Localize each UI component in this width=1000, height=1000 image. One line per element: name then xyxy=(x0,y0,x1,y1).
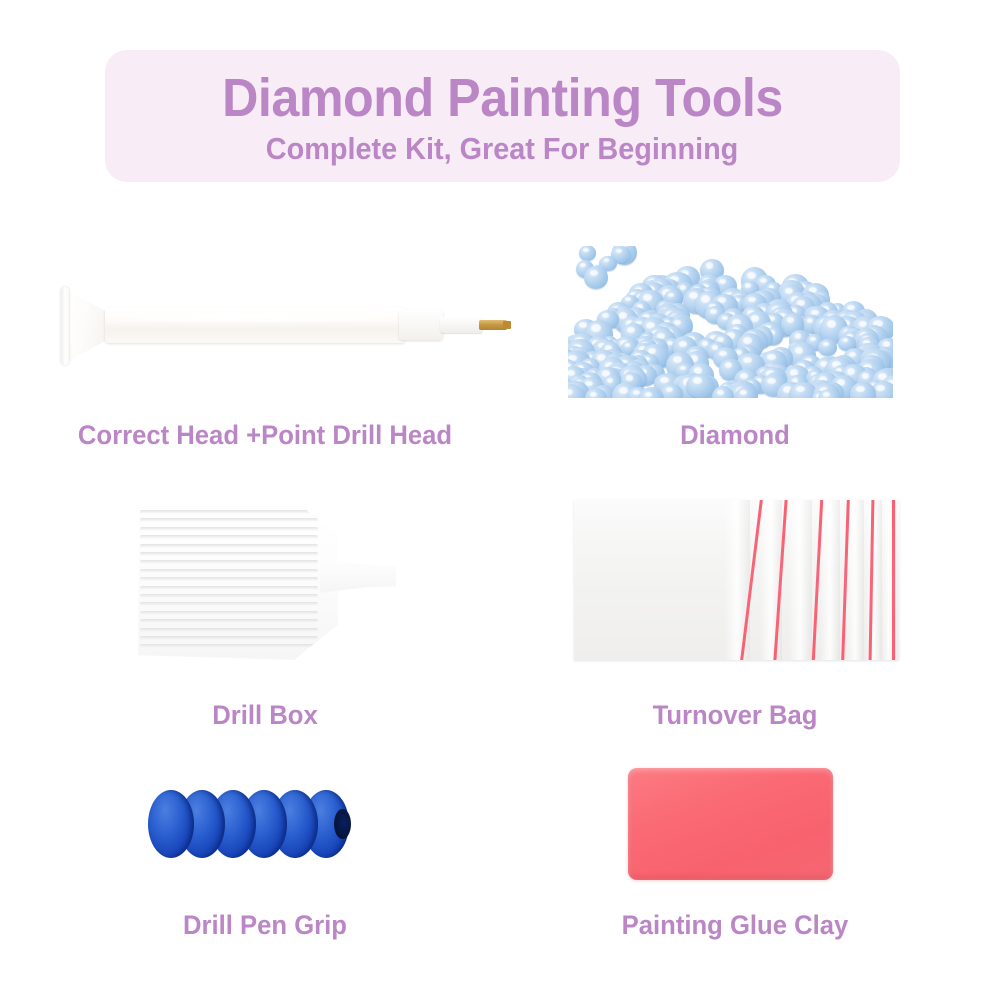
product-label-drill-box: Drill Box xyxy=(42,700,489,731)
drill-box-rib xyxy=(140,619,318,623)
pen-collar xyxy=(399,310,443,340)
product-cell-correct-head-point-drill-head xyxy=(30,250,500,400)
drill-box-rib xyxy=(140,569,318,573)
drill-box-rib xyxy=(140,602,318,606)
pen-nose-cone xyxy=(440,317,483,333)
product-label-diamond: Diamond xyxy=(531,420,940,451)
product-label-correct-head-point-drill-head: Correct Head +Point Drill Head xyxy=(42,420,489,451)
page-title: Diamond Painting Tools xyxy=(222,70,783,127)
zip-bag-fold xyxy=(788,500,812,660)
drill-box-rib xyxy=(140,560,318,564)
pen-correct-head-edge xyxy=(61,287,69,365)
pen-grip-segment xyxy=(148,790,194,858)
product-cell-turnover-bag xyxy=(520,495,950,670)
product-cell-painting-glue-clay xyxy=(520,760,950,890)
header-banner: Diamond Painting Tools Complete Kit, Gre… xyxy=(105,50,900,182)
product-cell-drill-box xyxy=(30,495,500,670)
pen-correct-head-blade xyxy=(63,288,109,364)
drill-box-body xyxy=(138,500,338,660)
pen-grip-bore-hole xyxy=(334,809,351,839)
drill-box-tray-photo xyxy=(138,500,398,660)
drill-box-rib xyxy=(140,552,318,556)
drill-box-rib xyxy=(140,628,318,632)
drill-box-rib xyxy=(140,535,318,539)
zip-bag-fold xyxy=(820,500,840,660)
glue-clay-block xyxy=(628,768,833,880)
product-cell-drill-pen-grip xyxy=(30,775,500,885)
turnover-zip-bags-photo xyxy=(574,500,899,660)
drill-box-rib xyxy=(140,510,318,514)
drill-pen-grip-photo xyxy=(148,790,353,858)
product-label-drill-pen-grip: Drill Pen Grip xyxy=(42,910,489,941)
zip-bag-seal-stripe xyxy=(892,500,895,660)
pen-gold-tip-cap xyxy=(503,321,511,329)
pen-barrel-highlight xyxy=(117,313,392,322)
drill-box-rib xyxy=(140,577,318,581)
drill-box-rib xyxy=(140,544,318,548)
diamond-drill xyxy=(639,389,661,398)
drill-pen-with-correct-head-photo xyxy=(55,268,495,383)
diamond-drill xyxy=(585,388,607,398)
diamond-drill xyxy=(686,374,715,399)
diamond-drill xyxy=(712,386,734,398)
diamond-drill xyxy=(818,339,837,356)
drill-box-rib xyxy=(140,586,318,590)
diamond-drill xyxy=(584,266,608,289)
drill-box-rib xyxy=(140,636,318,640)
painting-glue-clay-photo xyxy=(628,768,833,880)
drill-box-rib xyxy=(140,594,318,598)
drill-box-rib xyxy=(140,518,318,522)
product-label-turnover-bag: Turnover Bag xyxy=(531,700,940,731)
product-cell-diamond xyxy=(520,240,950,400)
drill-box-rib xyxy=(140,611,318,615)
page-subtitle: Complete Kit, Great For Beginning xyxy=(266,132,739,166)
drill-box-rib xyxy=(140,644,318,648)
drill-box-handle xyxy=(320,556,396,596)
drill-box-rib xyxy=(140,527,318,531)
product-label-painting-glue-clay: Painting Glue Clay xyxy=(531,910,940,941)
diamond-drill xyxy=(579,246,596,261)
diamond-drills-pile-photo xyxy=(568,246,893,398)
infographic-page: Diamond Painting Tools Complete Kit, Gre… xyxy=(0,0,1000,1000)
